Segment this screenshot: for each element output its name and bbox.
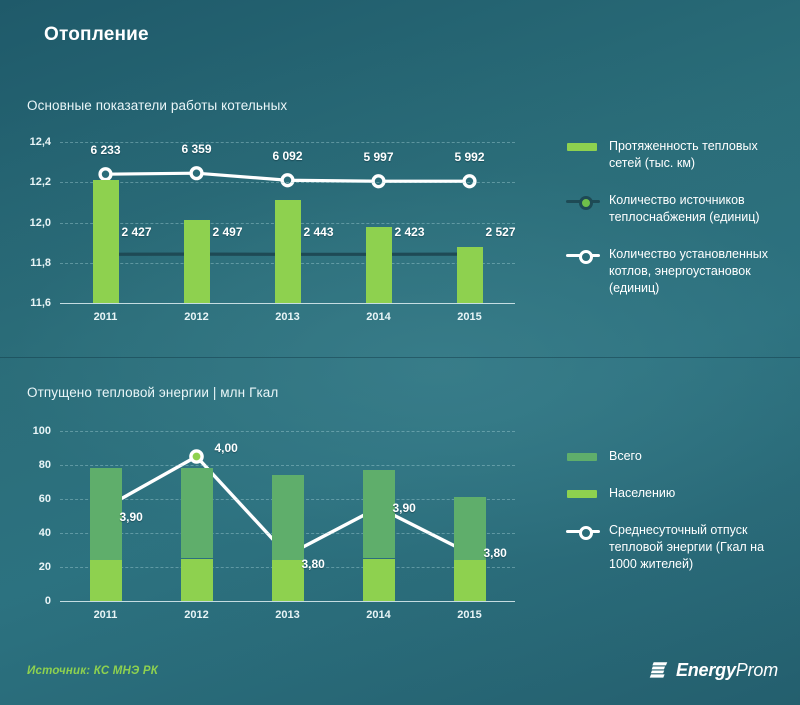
legend-label: Среднесуточный отпуск тепловой энергии (… <box>609 522 791 573</box>
value-label-daily-average: 4,00 <box>215 441 238 455</box>
chart1-legend: Протяженность тепловых сетей (тыс. км) К… <box>566 138 794 317</box>
bar <box>184 220 210 303</box>
bar <box>366 227 392 303</box>
line-series-marker <box>282 175 293 186</box>
brand-primary: Energy <box>676 660 736 680</box>
y-axis-tick: 100 <box>33 425 51 437</box>
y-axis-tick: 20 <box>39 561 51 573</box>
y-axis-tick: 11,8 <box>30 257 51 269</box>
x-axis-tick: 2012 <box>184 311 208 323</box>
line-series-marker <box>100 169 111 180</box>
bar-segment-total <box>272 475 304 560</box>
legend-item-daily-average[interactable]: Среднесуточный отпуск тепловой энергии (… <box>566 522 794 573</box>
y-axis-tick: 12,2 <box>30 176 51 188</box>
legend-item-heat-sources[interactable]: Количество источников теплоснабжения (ед… <box>566 192 794 226</box>
legend-item-population[interactable]: Населению <box>566 485 794 502</box>
section-title-boiler-indicators: Основные показатели работы котельных <box>27 98 287 113</box>
chart-heat-energy-released: 020406080100201120122013201420153,904,00… <box>0 418 540 618</box>
y-axis-tick: 0 <box>45 595 51 607</box>
x-axis-tick: 2011 <box>94 311 118 323</box>
x-axis-tick: 2012 <box>184 609 208 621</box>
bar <box>457 247 483 303</box>
bar-segment-total <box>90 468 122 560</box>
value-label-boilers: 6 359 <box>181 142 211 156</box>
x-axis-tick: 2013 <box>275 311 299 323</box>
white-line-marker-icon <box>566 523 600 539</box>
bar-segment-population <box>454 560 486 601</box>
chart2-legend: Всего Населению Среднесуточный отпуск те… <box>566 448 794 593</box>
legend-label: Количество установленных котлов, энергоу… <box>609 246 791 297</box>
value-label-boilers: 5 992 <box>454 150 484 164</box>
line-series-marker <box>373 176 384 187</box>
bar-segment-total <box>181 468 213 558</box>
energyprom-logo-icon <box>648 659 670 681</box>
value-label-heat-sources: 2 497 <box>213 225 243 239</box>
x-axis-tick: 2014 <box>366 609 390 621</box>
legend-label: Протяженность тепловых сетей (тыс. км) <box>609 138 791 172</box>
value-label-heat-sources: 2 443 <box>304 225 334 239</box>
y-axis-tick: 40 <box>39 527 51 539</box>
axis-baseline <box>60 303 515 304</box>
x-axis-tick: 2014 <box>366 311 390 323</box>
value-label-boilers: 6 092 <box>272 149 302 163</box>
dark-line-marker-icon <box>566 193 600 209</box>
x-axis-tick: 2015 <box>457 311 481 323</box>
value-label-daily-average: 3,90 <box>393 501 416 515</box>
line-series-marker <box>464 176 475 187</box>
white-line-marker-icon <box>566 247 600 263</box>
value-label-daily-average: 3,80 <box>484 546 507 560</box>
y-axis-tick: 12,0 <box>30 217 51 229</box>
brand-text: EnergyProm <box>676 660 778 681</box>
y-axis-tick: 11,6 <box>30 297 51 309</box>
muted-green-swatch-icon <box>566 449 600 465</box>
value-label-boilers: 6 233 <box>90 143 120 157</box>
line-series-marker <box>191 451 202 462</box>
section-title-heat-energy: Отпущено тепловой энергии | млн Гкал <box>27 385 278 400</box>
gridline <box>60 465 515 466</box>
bar-segment-total <box>454 497 486 560</box>
gridline <box>60 431 515 432</box>
y-axis-tick: 12,4 <box>30 136 51 148</box>
legend-label: Населению <box>609 485 675 502</box>
bar-segment-population <box>90 560 122 601</box>
value-label-daily-average: 3,80 <box>302 557 325 571</box>
legend-item-installed-boilers[interactable]: Количество установленных котлов, энергоу… <box>566 246 794 297</box>
chart1-plot-area: 11,611,812,012,212,420112012201320142015… <box>60 142 515 303</box>
bar-segment-total <box>363 470 395 558</box>
brand-secondary: Prom <box>736 660 778 680</box>
value-label-heat-sources: 2 427 <box>122 225 152 239</box>
x-axis-tick: 2015 <box>457 609 481 621</box>
line-series-marker <box>191 168 202 179</box>
bar-segment-population <box>181 559 213 602</box>
bright-green-swatch-icon <box>566 486 600 502</box>
y-axis-tick: 60 <box>39 493 51 505</box>
bar-segment-population <box>363 559 395 602</box>
value-label-boilers: 5 997 <box>363 150 393 164</box>
value-label-daily-average: 3,90 <box>120 510 143 524</box>
chart-boiler-indicators: 11,611,812,012,212,420112012201320142015… <box>0 130 540 330</box>
axis-baseline <box>60 601 515 602</box>
page-title: Отопление <box>44 24 149 46</box>
infographic-page: Отопление Основные показатели работы кот… <box>0 0 800 705</box>
bar <box>275 200 301 303</box>
x-axis-tick: 2013 <box>275 609 299 621</box>
value-label-heat-sources: 2 423 <box>395 225 425 239</box>
bar <box>93 180 119 303</box>
chart2-plot-area: 020406080100201120122013201420153,904,00… <box>60 431 515 601</box>
brand-logo: EnergyProm <box>648 659 778 681</box>
legend-item-total[interactable]: Всего <box>566 448 794 465</box>
source-note: Источник: КС МНЭ РК <box>27 665 158 677</box>
green-swatch-icon <box>566 139 600 155</box>
x-axis-tick: 2011 <box>94 609 118 621</box>
gridline <box>60 182 515 183</box>
legend-label: Всего <box>609 448 642 465</box>
legend-label: Количество источников теплоснабжения (ед… <box>609 192 791 226</box>
value-label-heat-sources: 2 527 <box>486 225 516 239</box>
legend-item-heat-networks[interactable]: Протяженность тепловых сетей (тыс. км) <box>566 138 794 172</box>
y-axis-tick: 80 <box>39 459 51 471</box>
line-series-path <box>106 173 470 181</box>
bar-segment-population <box>272 560 304 601</box>
gridline <box>60 142 515 143</box>
